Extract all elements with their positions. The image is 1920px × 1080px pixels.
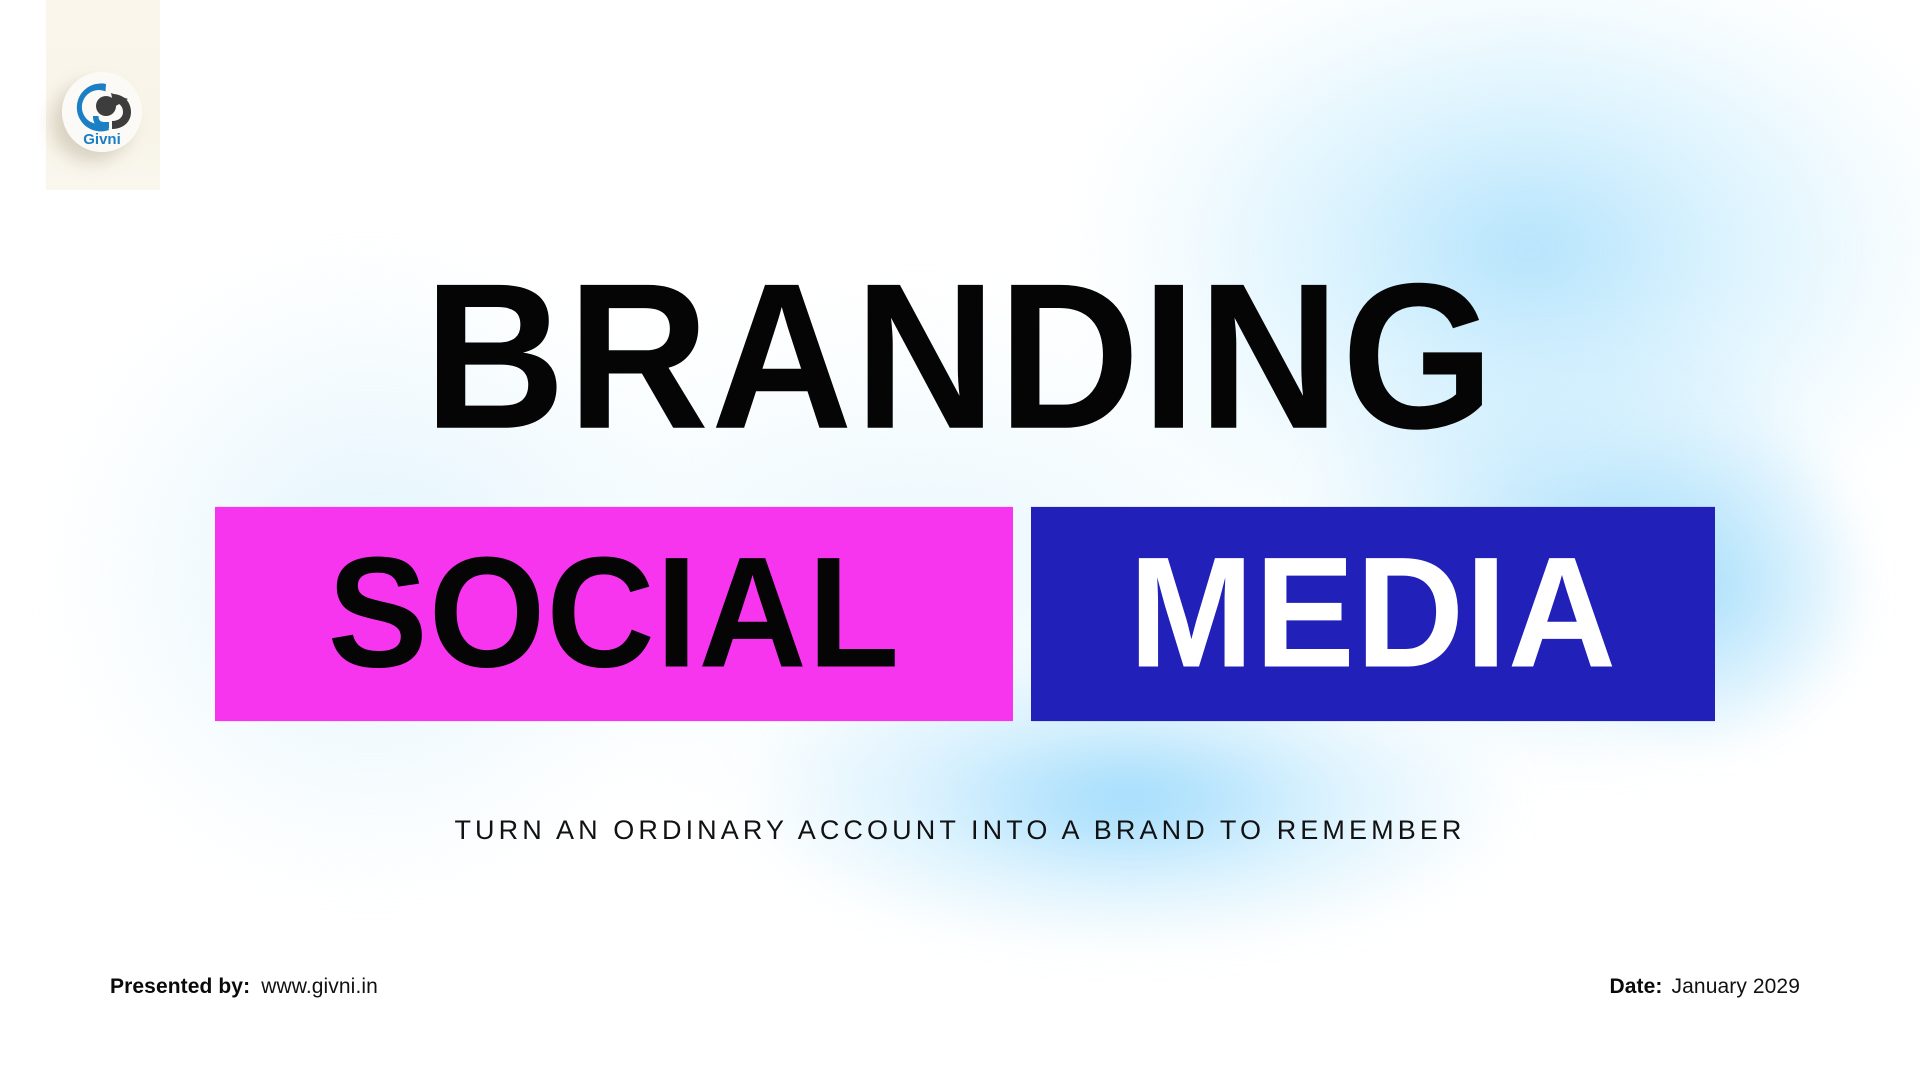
givni-circular-logo-icon: Givni [62,72,142,152]
footer-presented-by: Presented by: www.givni.in [110,975,378,999]
svg-text:Givni: Givni [83,131,121,148]
slide-footer: Presented by: www.givni.in Date: January… [0,975,1920,1015]
givni-logo-badge[interactable]: Givni [62,72,142,152]
presentation-slide: Givni BRANDING SOCIAL MEDIA TURN AN ORDI… [0,0,1920,1080]
date-label: Date: [1610,975,1663,999]
highlight-bar-media: MEDIA [1031,507,1715,721]
presented-by-value[interactable]: www.givni.in [261,975,378,999]
highlight-bar-gap [1013,512,1031,716]
highlight-bar-social: SOCIAL [215,507,1013,721]
slide-headline: BRANDING [0,255,1920,459]
presented-by-label: Presented by: [110,975,250,999]
date-value: January 2029 [1672,975,1800,999]
footer-date: Date: January 2029 [1610,975,1800,999]
slide-subtitle: TURN AN ORDINARY ACCOUNT INTO A BRAND TO… [0,815,1920,846]
highlight-bars: SOCIAL MEDIA [215,512,1715,716]
